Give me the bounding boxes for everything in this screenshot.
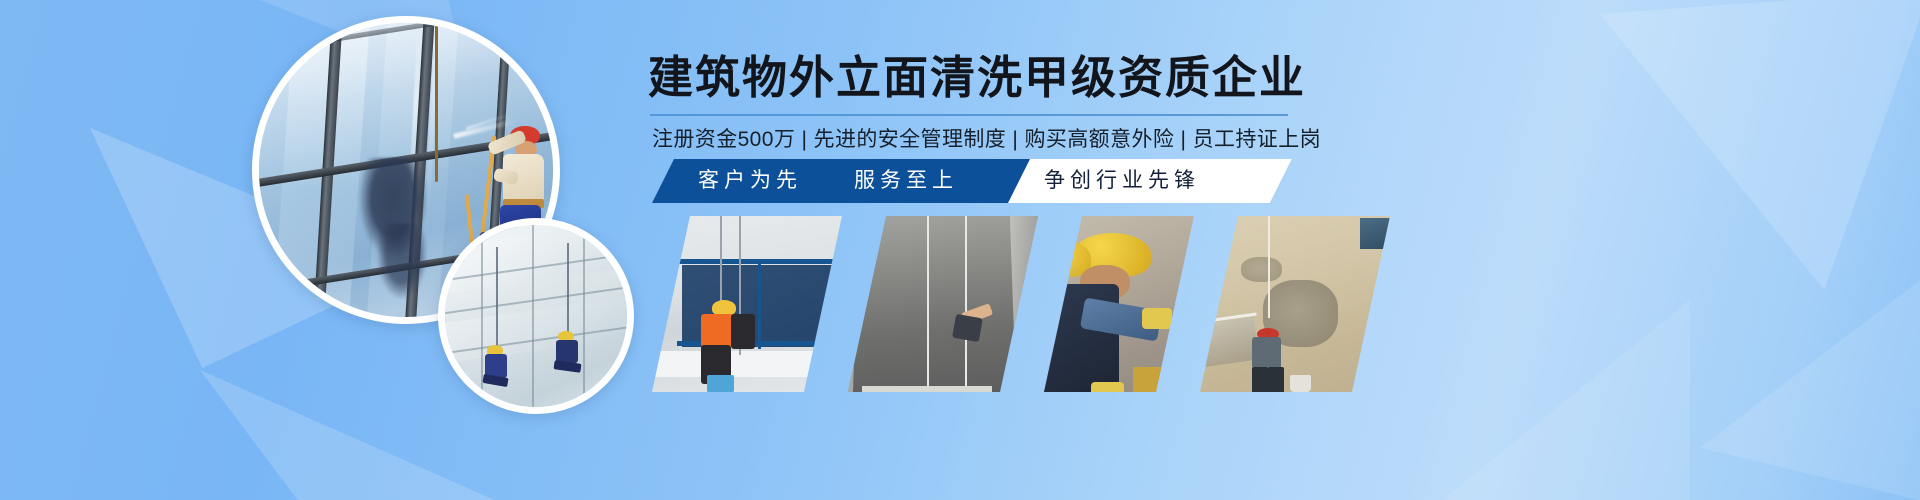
banner-subline: 注册资金500万 | 先进的安全管理制度 | 购买高额意外险 | 员工持证上岗	[652, 124, 1321, 156]
strip-photo-2	[848, 216, 1038, 392]
slogan-text-3: 争创行业先锋	[1044, 159, 1200, 203]
slogan-text-2: 服务至上	[854, 159, 958, 203]
background-triangle-4	[1600, 0, 1920, 290]
banner-headline: 建筑物外立面清洗甲级资质企业	[648, 52, 1306, 104]
strip-photo-1	[652, 216, 842, 392]
strip-photo-4	[1200, 216, 1390, 392]
headline-divider	[650, 114, 1288, 116]
slogan-ribbon: 客户为先 服务至上 争创行业先锋	[652, 159, 1292, 203]
background-triangle-5	[1700, 250, 1920, 500]
strip-photo-3	[1044, 216, 1194, 392]
background-triangle-6	[1430, 300, 1690, 500]
promo-banner: 建筑物外立面清洗甲级资质企业 注册资金500万 | 先进的安全管理制度 | 购买…	[0, 0, 1920, 500]
photo-strip	[652, 216, 1312, 392]
slogan-text-1: 客户为先	[698, 159, 802, 203]
circle-photo-secondary	[438, 218, 634, 414]
